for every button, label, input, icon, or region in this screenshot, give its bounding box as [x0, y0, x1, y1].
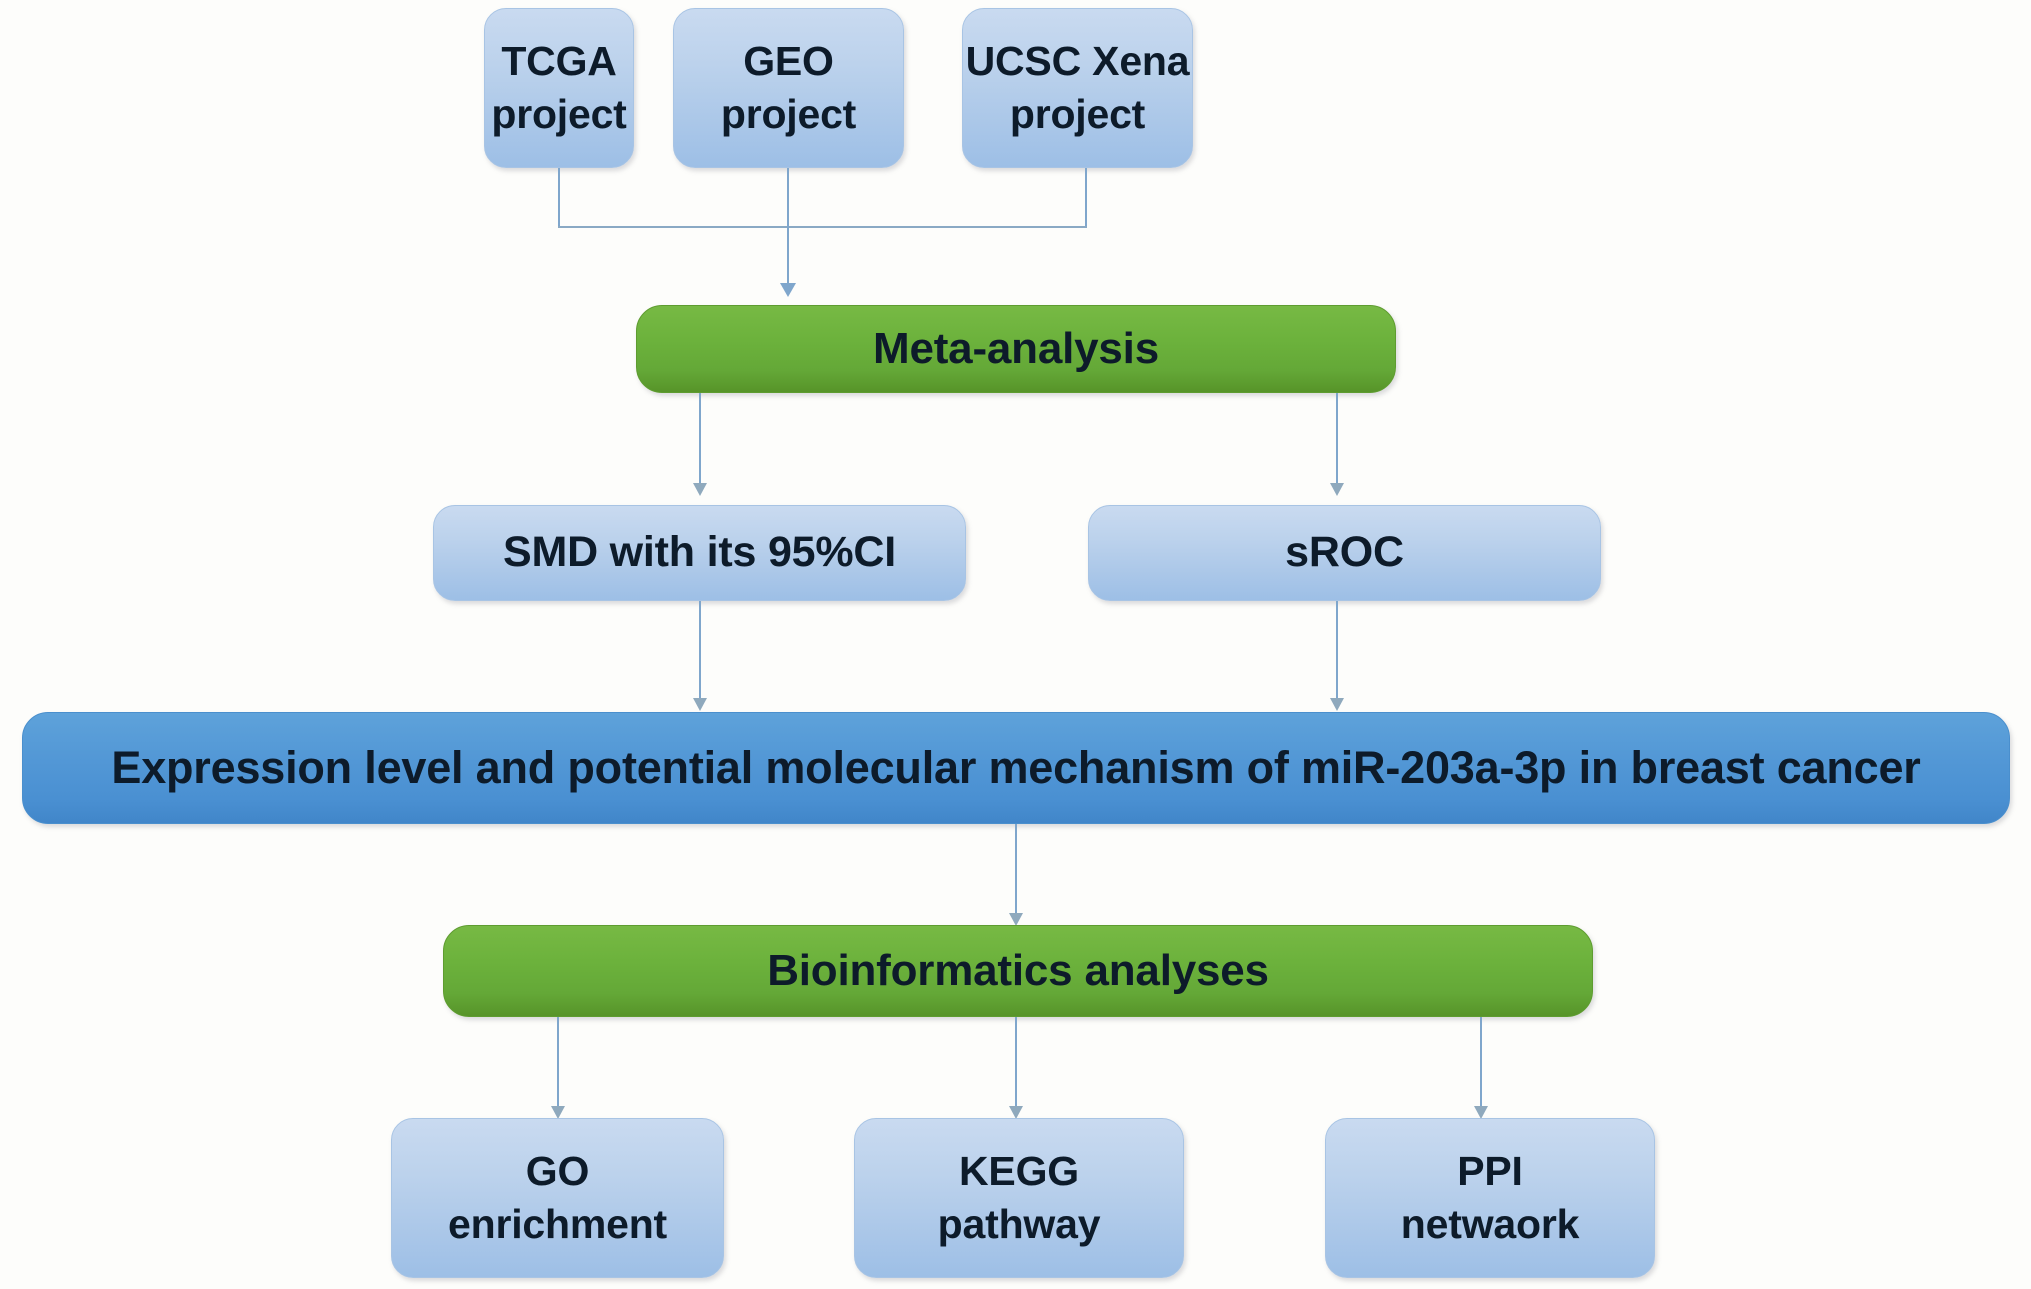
- edge-meta-to-smd: [699, 393, 701, 491]
- node-meta-analysis[interactable]: Meta-analysis: [636, 305, 1396, 393]
- node-sroc[interactable]: sROC: [1088, 505, 1601, 601]
- node-outcome-banner[interactable]: Expression level and potential molecular…: [22, 712, 2010, 824]
- node-tcga-project[interactable]: TCGA project: [484, 8, 634, 168]
- node-tcga-project-label: TCGA project: [491, 35, 626, 142]
- node-go-enrichment[interactable]: GO enrichment: [391, 1118, 724, 1278]
- edge-tcga-drop: [558, 168, 560, 228]
- arrowhead-to-meta: [780, 283, 796, 297]
- node-ppi-network-label: PPI netwaork: [1401, 1145, 1579, 1252]
- edge-smd-to-outcome: [699, 601, 701, 709]
- node-geo-project-label: GEO project: [721, 35, 856, 142]
- node-smd-ci[interactable]: SMD with its 95%CI: [433, 505, 966, 601]
- node-meta-analysis-label: Meta-analysis: [873, 320, 1159, 377]
- edge-merge-bar: [558, 226, 1087, 228]
- node-ucsc-xena-project-label: UCSC Xena project: [966, 35, 1190, 142]
- arrowhead-sroc-to-outcome: [1330, 698, 1344, 711]
- edge-outcome-to-bioinformatics: [1015, 824, 1017, 924]
- node-smd-ci-label: SMD with its 95%CI: [503, 525, 896, 581]
- node-ppi-network[interactable]: PPI netwaork: [1325, 1118, 1655, 1278]
- edge-sroc-to-outcome: [1336, 601, 1338, 709]
- arrowhead-to-smd: [693, 483, 707, 496]
- node-ucsc-xena-project[interactable]: UCSC Xena project: [962, 8, 1193, 168]
- edge-merge-to-meta: [787, 168, 789, 230]
- node-kegg-pathway[interactable]: KEGG pathway: [854, 1118, 1184, 1278]
- arrowhead-smd-to-outcome: [693, 698, 707, 711]
- edge-bio-to-go: [557, 1017, 559, 1115]
- flowchart-canvas: TCGA project GEO project UCSC Xena proje…: [0, 0, 2031, 1289]
- node-bioinformatics-analyses-label: Bioinformatics analyses: [767, 942, 1269, 999]
- edge-ucsc-drop: [1085, 168, 1087, 228]
- node-geo-project[interactable]: GEO project: [673, 8, 904, 168]
- edge-meta-to-sroc: [1336, 393, 1338, 491]
- node-bioinformatics-analyses[interactable]: Bioinformatics analyses: [443, 925, 1593, 1017]
- node-outcome-banner-label: Expression level and potential molecular…: [111, 739, 1920, 798]
- arrowhead-to-sroc: [1330, 483, 1344, 496]
- node-go-enrichment-label: GO enrichment: [448, 1145, 667, 1252]
- edge-bio-to-kegg: [1015, 1017, 1017, 1115]
- node-kegg-pathway-label: KEGG pathway: [938, 1145, 1101, 1252]
- node-sroc-label: sROC: [1285, 525, 1404, 581]
- edge-bio-to-ppi: [1480, 1017, 1482, 1115]
